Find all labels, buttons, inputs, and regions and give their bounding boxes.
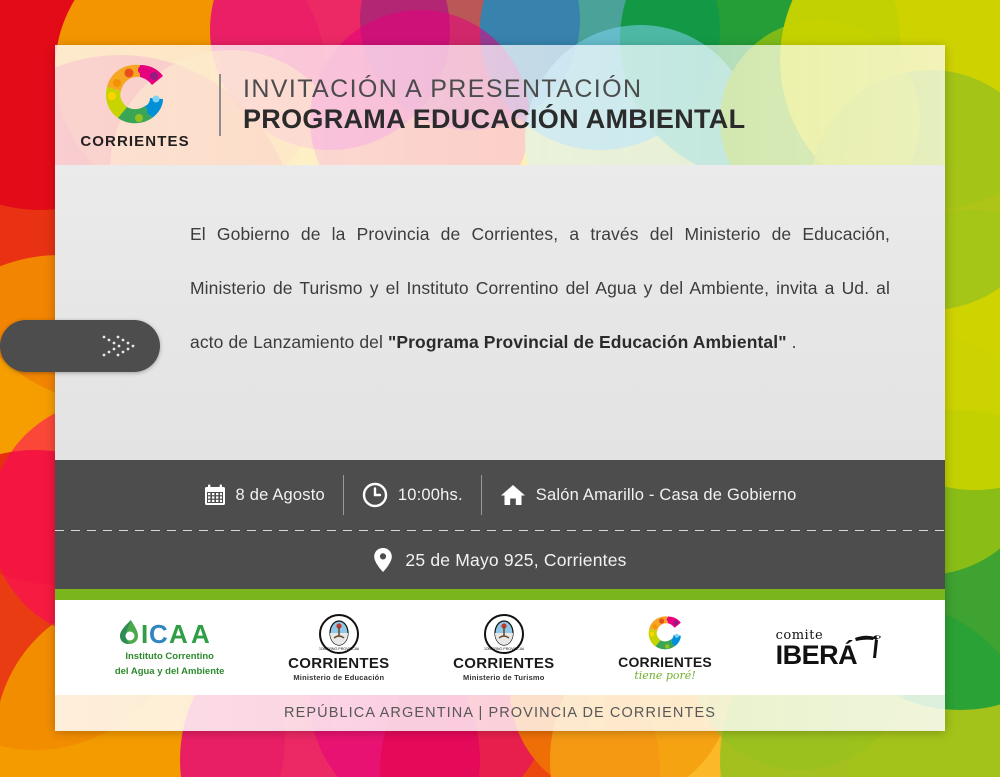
edu-sub-label: Ministerio de Educación	[293, 673, 384, 682]
svg-text:GOBIERNO PROVINCIAL: GOBIERNO PROVINCIAL	[319, 647, 359, 651]
header-divider	[219, 74, 221, 136]
ibera-bird-icon	[851, 628, 885, 662]
sponsor-ministerio-turismo: GOBIERNO PROVINCIAL CORRIENTES Ministeri…	[453, 614, 554, 682]
invitation-card: CORRIENTES INVITACIÓN A PRESENTACIÓN PRO…	[55, 45, 945, 730]
double-chevron-right-icon	[96, 331, 142, 361]
pore-brand-label: CORRIENTES	[618, 654, 712, 670]
argentina-crest-icon: GOBIERNO PROVINCIAL	[319, 614, 359, 654]
green-accent-bar	[55, 589, 945, 600]
sponsor-logos: I C A A Instituto Correntino del Agua y …	[55, 600, 945, 695]
pore-tagline: tiene poré!	[634, 669, 695, 682]
tur-brand-label: CORRIENTES	[453, 655, 554, 672]
date-cell: 8 de Agosto	[186, 484, 343, 506]
date-label: 8 de Agosto	[236, 486, 325, 505]
svg-text:A: A	[191, 619, 210, 648]
venue-label: Salón Amarillo - Casa de Gobierno	[536, 486, 797, 505]
ibera-label: IBERÁ	[776, 642, 858, 668]
card-header: CORRIENTES INVITACIÓN A PRESENTACIÓN PRO…	[55, 45, 945, 165]
paragraph-bold: "Programa Provincial de Educación Ambien…	[388, 332, 787, 352]
venue-cell: Salón Amarillo - Casa de Gobierno	[482, 483, 815, 507]
body-text-block: El Gobierno de la Provincia de Corriente…	[55, 165, 945, 369]
header-title: PROGRAMA EDUCACIÓN AMBIENTAL	[243, 104, 745, 135]
svg-text:A: A	[169, 619, 188, 648]
tur-sub-label: Ministerio de Turismo	[463, 673, 545, 682]
header-subtitle: INVITACIÓN A PRESENTACIÓN	[243, 75, 745, 104]
details-row-primary: 8 de Agosto 10:00hs. Salón Amarillo - Ca…	[55, 460, 945, 530]
sponsor-corrientes-tiene-pore: CORRIENTES tiene poré!	[618, 614, 712, 682]
argentina-crest-icon: GOBIERNO PROVINCIAL	[484, 614, 524, 654]
header-brand: CORRIENTES	[55, 61, 215, 150]
details-bar: 8 de Agosto 10:00hs. Salón Amarillo - Ca…	[55, 460, 945, 589]
svg-text:C: C	[149, 619, 168, 648]
chevron-tab[interactable]	[0, 320, 160, 372]
home-icon	[500, 483, 526, 507]
svg-text:I: I	[141, 619, 148, 648]
sponsor-icaa: I C A A Instituto Correntino del Agua y …	[115, 618, 225, 678]
clock-icon	[362, 482, 388, 508]
sponsor-ministerio-educacion: GOBIERNO PROVINCIAL CORRIENTES Ministeri…	[288, 614, 389, 682]
svg-text:GOBIERNO PROVINCIAL: GOBIERNO PROVINCIAL	[484, 647, 524, 651]
corrientes-c-logo-icon	[96, 61, 174, 131]
map-pin-icon	[373, 547, 393, 573]
header-titles: INVITACIÓN A PRESENTACIÓN PROGRAMA EDUCA…	[243, 75, 745, 135]
paragraph-post: .	[787, 332, 797, 352]
edu-brand-label: CORRIENTES	[288, 655, 389, 672]
footer-label: REPÚBLICA ARGENTINA | PROVINCIA DE CORRI…	[284, 705, 716, 721]
icaa-sub-line-2: del Agua y del Ambiente	[115, 666, 225, 678]
address-label: 25 de Mayo 925, Corrientes	[405, 550, 626, 571]
corrientes-c-logo-icon	[643, 614, 687, 654]
sponsor-comite-ibera: comite IBERÁ	[776, 628, 886, 668]
calendar-icon	[204, 484, 226, 506]
card-footer: REPÚBLICA ARGENTINA | PROVINCIA DE CORRI…	[55, 695, 945, 731]
card-body: El Gobierno de la Provincia de Corriente…	[55, 165, 945, 460]
details-row-address: 25 de Mayo 925, Corrientes	[55, 531, 945, 589]
time-cell: 10:00hs.	[344, 482, 481, 508]
icaa-sub-line-1: Instituto Correntino	[125, 651, 214, 663]
header-brand-label: CORRIENTES	[80, 133, 189, 150]
time-label: 10:00hs.	[398, 486, 463, 505]
invitation-paragraph: El Gobierno de la Provincia de Corriente…	[190, 207, 890, 369]
icaa-logo-icon: I C A A	[117, 618, 223, 648]
